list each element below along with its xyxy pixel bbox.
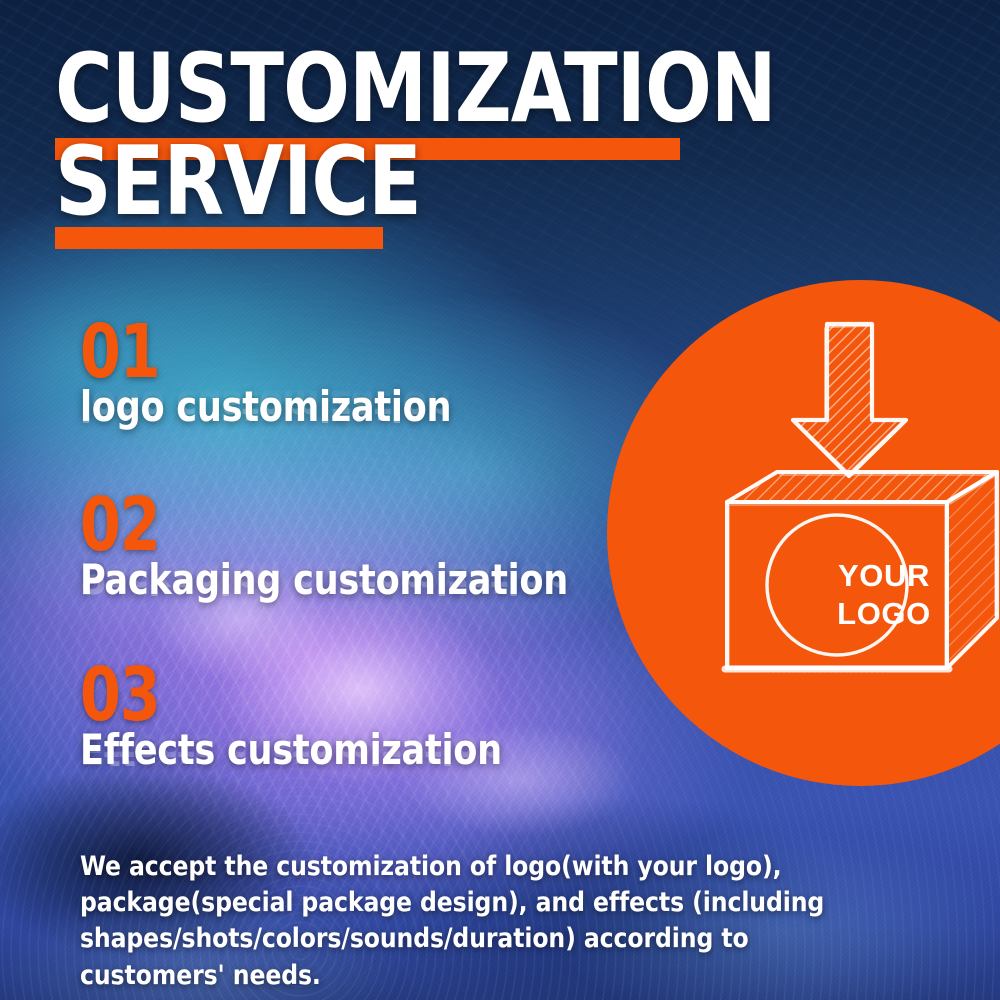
service-item-02-label: Packaging customization [80, 559, 568, 601]
service-item-01-label: logo customization [80, 386, 451, 428]
logo-placeholder-circle [767, 515, 907, 655]
package-box-illustration [607, 280, 1000, 786]
custom-logo-badge: YOUR LOGO [607, 280, 1000, 786]
service-item-02-number: 02 [80, 495, 542, 556]
title-line-2-text: SERVICE [55, 139, 776, 226]
service-item-03-number: 03 [80, 665, 479, 726]
service-item-02-label-wrap: Packaging customization Packaging custom… [80, 559, 605, 605]
body-paragraph: We accept the customization of logo(with… [80, 849, 827, 994]
service-item-01-number: 01 [80, 322, 431, 383]
service-item-03: 03 Effects customization Effects customi… [80, 665, 534, 775]
title-line-2: SERVICE [55, 139, 838, 226]
service-item-01: 01 logo customization logo customization [80, 322, 479, 432]
banner-content: CUSTOMIZATION SERVICE 01 logo customizat… [0, 0, 1000, 1000]
arrow-down-icon [793, 324, 906, 476]
title-line-1: CUSTOMIZATION [55, 46, 838, 133]
service-item-03-label: Effects customization [80, 729, 502, 771]
service-item-02: 02 Packaging customization Packaging cus… [80, 495, 605, 605]
customization-service-banner: CUSTOMIZATION SERVICE 01 logo customizat… [0, 0, 1000, 1000]
service-item-03-label-wrap: Effects customization Effects customizat… [80, 729, 534, 775]
title-line-1-text: CUSTOMIZATION [55, 46, 776, 133]
service-item-01-label-wrap: logo customization logo customization [80, 386, 479, 432]
page-title: CUSTOMIZATION SERVICE [55, 46, 838, 227]
package-box-icon [725, 472, 997, 669]
